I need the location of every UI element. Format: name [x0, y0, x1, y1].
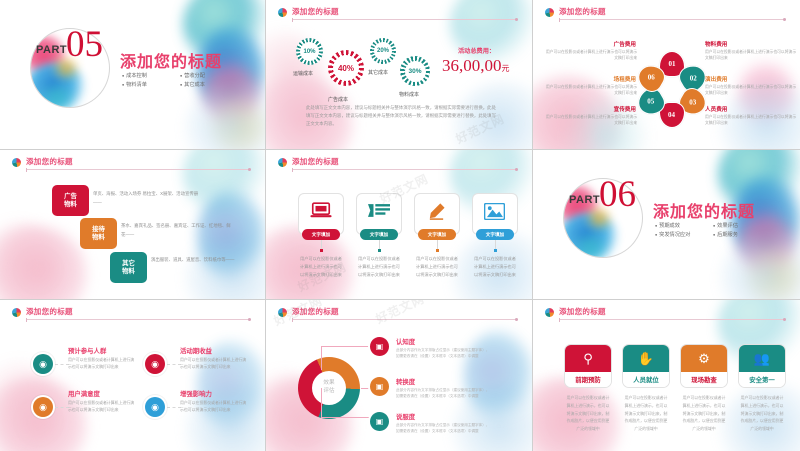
gear-icon: ⚙ — [681, 345, 727, 372]
watercolor-blob — [720, 231, 800, 300]
part-word: PART — [36, 44, 67, 56]
icon-card-badge-4[interactable]: 文字填加 — [476, 229, 514, 240]
evaluation-text-1: 此部分内容作为文字排版占位显示（建议使用主题字体），如需更改请在（设置）文本框中… — [396, 347, 492, 360]
safety-card-label-4: 安全第一 — [739, 372, 785, 387]
petal-text-03: 用户可以在投影仪或者计算机上进行演示也可以将演示文稿打印出来 — [705, 84, 797, 97]
benefit-title-1: 预计参与人群 — [68, 346, 106, 355]
slide-thumbnail-materials[interactable]: 添加您的标题 广告 物料 单页、海报、活动入场券 易拉宝、X展架、活动宣传册——… — [0, 150, 266, 300]
material-label-line2: 物料 — [64, 201, 77, 209]
evaluation-title-3: 说服度 — [396, 412, 415, 421]
evaluation-title-1: 认知度 — [396, 337, 415, 346]
ring-label: 运输成本 — [293, 70, 313, 77]
petal-text-01: 用户可以在投影仪或者计算机上进行演示也可以将演示文稿打印出来 — [545, 49, 637, 62]
petal-label-02: 物料费用 — [705, 40, 727, 48]
header-rule — [292, 19, 518, 20]
slide-header: 添加您的标题 — [12, 307, 251, 325]
watercolor-blob — [185, 81, 266, 150]
connector-node — [436, 249, 439, 252]
slide-header-title: 添加您的标题 — [26, 156, 73, 167]
connector-dash — [167, 364, 181, 365]
benefit-title-4: 增强影响力 — [180, 389, 212, 398]
cover-bullet-list: 预期成效 效果评估 突发情况应对 后期服务 — [655, 222, 765, 238]
ring-chart-segment: 30% — [400, 56, 430, 86]
cover-bullet-list: 成本控制 营收分配 物料清单 其它成本 — [122, 72, 232, 88]
people-icon: 👥 — [739, 345, 785, 372]
header-rule — [559, 319, 786, 320]
palette-icon — [545, 8, 554, 17]
benefit-icon-target[interactable]: ◉ — [33, 354, 53, 374]
part-number: 06 — [599, 176, 636, 213]
slide-thumbnail-fee-petals[interactable]: 添加您的标题 01 02 03 04 05 06 广告费用 用户可以在投影仪或者… — [533, 0, 800, 150]
ring-value: 10% — [300, 42, 319, 61]
part-number: 05 — [66, 26, 103, 63]
benefit-title-2: 活动期收益 — [180, 346, 212, 355]
connector-node — [494, 249, 497, 252]
page-title: 添加您的标题 — [653, 198, 755, 222]
slide-thumbnail-icon-cards[interactable]: 添加您的标题 文字填加 用户可以在投影仪或者计算机上进行演示也可以将演示文稿打印… — [266, 150, 533, 300]
benefit-text-1: 用户可以在投影仪或者计算机上进行演示也可以将演示文稿打印出来 — [68, 356, 136, 370]
petal-text-06: 用户可以在投影仪或者计算机上进行演示也可以将演示文稿打印出来 — [545, 84, 637, 97]
cover-bullet: 预期成效 — [655, 222, 707, 229]
total-cost-unit: 元 — [502, 64, 510, 73]
material-label-line1: 接待 — [92, 226, 105, 234]
safety-card-text-1: 用户可以在投影仪或者计算机上进行演示，也可以将演示文稿打印出来，制作成胶片，以便… — [566, 394, 610, 433]
petal-label-04: 人员费用 — [705, 105, 727, 113]
donut-center-line1: 效果 — [323, 380, 334, 388]
petal-text-02: 用户可以在投影仪或者计算机上进行演示也可以将演示文稿打印出来 — [705, 49, 797, 62]
icon-card-text-2: 用户可以在投影仪或者计算机上进行演示也可以将演示文稿打印出来 — [356, 255, 402, 279]
slide-header: 添加您的标题 — [545, 7, 786, 25]
total-cost-number: 36,00,00 — [442, 56, 502, 75]
list-icon — [368, 203, 390, 223]
slide-thumbnail-safety[interactable]: 添加您的标题 ⚲ 前期预防 用户可以在投影仪或者计算机上进行演示，也可以将演示文… — [533, 300, 800, 451]
benefit-icon-coin[interactable]: ◉ — [145, 354, 165, 374]
evaluation-text-3: 此部分内容作为文字排版占位显示（建议使用主题字体），如需更改请在（设置）文本框中… — [396, 422, 492, 435]
slide-header: 添加您的标题 — [545, 307, 786, 325]
slide-header-title: 添加您的标题 — [26, 306, 73, 317]
benefit-text-3: 用户可以在投影仪或者计算机上进行演示也可以将演示文稿打印出来 — [68, 399, 136, 413]
ring-value: 40% — [333, 55, 359, 81]
ring-label: 其它成本 — [368, 69, 388, 76]
connector-dash — [55, 364, 69, 365]
header-rule — [292, 169, 518, 170]
benefit-text-2: 用户可以在投影仪或者计算机上进行演示也可以将演示文稿打印出来 — [180, 356, 248, 370]
palette-icon — [278, 158, 287, 167]
slide-thumbnail-part-05[interactable]: PART 05 添加您的标题 成本控制 营收分配 物料清单 其它成本 — [0, 0, 266, 150]
icon-card-text-3: 用户可以在投影仪或者计算机上进行演示也可以将演示文稿打印出来 — [414, 255, 460, 279]
page-title: 添加您的标题 — [120, 48, 222, 72]
laptop-icon — [310, 202, 332, 224]
safety-card-text-2: 用户可以在投影仪或者计算机上进行演示，也可以将演示文稿打印出来，制作成胶片，以便… — [624, 394, 668, 433]
evaluation-title-2: 转换度 — [396, 377, 415, 386]
connector-dash — [55, 407, 69, 408]
slide-thumbnail-grid: PART 05 添加您的标题 成本控制 营收分配 物料清单 其它成本 添加您的标… — [0, 0, 800, 451]
ring-chart-segment: 10% — [296, 38, 323, 65]
cover-bullet: 效果评估 — [713, 222, 765, 229]
slide-thumbnail-cost-rings[interactable]: 添加您的标题 10% 运输成本 40% 广告成本 20% 其它成本 30% 物料… — [266, 0, 533, 150]
slide-header: 添加您的标题 — [278, 307, 518, 325]
connector-dash — [167, 407, 181, 408]
petal-label-06: 场租费用 — [606, 75, 636, 83]
icon-card-text-4: 用户可以在投影仪或者计算机上进行演示也可以将演示文稿打印出来 — [472, 255, 518, 279]
magnifier-icon: ⚲ — [565, 345, 611, 372]
petal-label-05: 宣传费用 — [606, 105, 636, 113]
safety-card-1[interactable]: ⚲ 前期预防 — [564, 344, 612, 388]
palette-icon — [278, 8, 287, 17]
evaluation-icon-1[interactable]: ▣ — [370, 337, 389, 356]
ring-chart-segment: 20% — [370, 38, 396, 64]
header-rule — [26, 319, 251, 320]
image-icon — [484, 203, 505, 225]
slide-header-title: 添加您的标题 — [559, 6, 606, 17]
slide-header-title: 添加您的标题 — [292, 6, 339, 17]
body-paragraph: 此处填写正文文本内容，建议与标题相关并与整体演示风格一致，请根据实际需要进行替换… — [306, 104, 496, 128]
slide-header: 添加您的标题 — [278, 157, 518, 175]
petal-label-01: 广告费用 — [606, 40, 636, 48]
slide-header: 添加您的标题 — [12, 157, 251, 175]
evaluation-icon-2[interactable]: ▣ — [370, 377, 389, 396]
material-label-line2: 物料 — [92, 234, 105, 242]
slide-header-title: 添加您的标题 — [292, 306, 339, 317]
safety-card-label-1: 前期预防 — [565, 372, 611, 387]
palette-icon — [545, 308, 554, 317]
safety-card-text-3: 用户可以在投影仪或者计算机上进行演示，也可以将演示文稿打印出来，制作成胶片，以便… — [682, 394, 726, 433]
benefit-text-4: 用户可以在投影仪或者计算机上进行演示也可以将演示文稿打印出来 — [180, 399, 248, 413]
icon-card-badge-2[interactable]: 文字填加 — [360, 229, 398, 240]
watercolor-blob — [0, 220, 60, 300]
watercolor-blob — [203, 96, 266, 150]
watercolor-blob — [185, 231, 266, 300]
material-block-reception[interactable]: 接待 物料 — [80, 218, 117, 249]
material-block-other[interactable]: 其它 物料 — [110, 252, 147, 283]
slide-header-title: 添加您的标题 — [559, 306, 606, 317]
ring-label: 广告成本 — [328, 96, 348, 103]
watercolor-blob — [738, 246, 800, 300]
slide-thumbnail-part-06[interactable]: PART 06 添加您的标题 预期成效 效果评估 突发情况应对 后期服务 — [533, 150, 800, 300]
connector-node — [378, 249, 381, 252]
material-label-line1: 其它 — [122, 260, 135, 268]
icon-card-badge-1[interactable]: 文字填加 — [302, 229, 340, 240]
header-rule — [26, 169, 251, 170]
safety-card-label-3: 现场勘查 — [681, 372, 727, 387]
watercolor-blob — [464, 330, 533, 422]
evaluation-icon-3[interactable]: ▣ — [370, 412, 389, 431]
slide-thumbnail-benefits[interactable]: 添加您的标题 ◉ 预计参与人群 用户可以在投影仪或者计算机上进行演示也可以将演示… — [0, 300, 266, 451]
safety-card-label-2: 人员就位 — [623, 372, 669, 387]
handshake-icon: ✋ — [623, 345, 669, 372]
safety-card-text-4: 用户可以在投影仪或者计算机上进行演示，也可以将演示文稿打印出来，制作成胶片，以便… — [740, 394, 784, 433]
leader-line-1 — [321, 346, 369, 370]
benefit-title-3: 用户满意度 — [68, 389, 100, 398]
part-word: PART — [569, 194, 600, 206]
connector-node — [320, 249, 323, 252]
slide-thumbnail-evaluation[interactable]: 添加您的标题 效果 评估 ▣ 认知度 此部分内容作为文字排版占位显示（建议使用主… — [266, 300, 533, 451]
safety-card-4[interactable]: 👥 安全第一 — [738, 344, 786, 388]
header-rule — [292, 319, 518, 320]
benefit-icon-globe[interactable]: ◉ — [145, 397, 165, 417]
cover-bullet: 突发情况应对 — [655, 231, 707, 238]
material-block-advertising[interactable]: 广告 物料 — [52, 185, 89, 216]
slide-header-title: 添加您的标题 — [292, 156, 339, 167]
material-text-reception: 茶水、嘉宾礼品、签名册、嘉宾证、工作证、红地毯、鲜花—— — [121, 222, 231, 240]
safety-card-2[interactable]: ✋ 人员就位 — [622, 344, 670, 388]
petal-label-03: 演出费用 — [705, 75, 727, 83]
material-label-line2: 物料 — [122, 268, 135, 276]
ring-chart-segment: 40% — [328, 50, 364, 86]
palette-icon — [12, 158, 21, 167]
total-cost-value: 36,00,00元 — [442, 56, 510, 76]
cover-bullet: 其它成本 — [180, 81, 232, 88]
total-cost-label: 活动总费用： — [458, 46, 495, 55]
icon-card-text-1: 用户可以在投影仪或者计算机上进行演示也可以将演示文稿打印出来 — [298, 255, 344, 279]
safety-card-3[interactable]: ⚙ 现场勘查 — [680, 344, 728, 388]
material-text-advertising: 单页、海报、活动入场券 易拉宝、X展架、活动宣传册—— — [93, 190, 203, 208]
palette-icon — [12, 308, 21, 317]
evaluation-text-2: 此部分内容作为文字排版占位显示（建议使用主题字体），如需更改请在（设置）文本框中… — [396, 387, 492, 400]
header-rule — [559, 19, 786, 20]
cover-bullet: 成本控制 — [122, 72, 174, 79]
cover-bullet: 物料清单 — [122, 81, 174, 88]
cover-bullet: 营收分配 — [180, 72, 232, 79]
ring-value: 20% — [374, 42, 392, 60]
icon-card-badge-3[interactable]: 文字填加 — [418, 229, 456, 240]
palette-icon — [278, 308, 287, 317]
benefit-icon-smile[interactable]: ◉ — [33, 397, 53, 417]
material-label-line1: 广告 — [64, 193, 77, 201]
leader-line-3 — [321, 388, 369, 418]
ring-value: 30% — [405, 61, 426, 82]
ring-label: 物料成本 — [399, 91, 419, 98]
petal-text-05: 用户可以在投影仪或者计算机上进行演示也可以将演示文稿打印出来 — [545, 114, 637, 127]
pencil-icon — [427, 202, 446, 226]
petal-text-04: 用户可以在投影仪或者计算机上进行演示也可以将演示文稿打印出来 — [705, 114, 797, 127]
watercolor-blob — [0, 225, 88, 300]
cover-bullet: 后期服务 — [713, 231, 765, 238]
material-text-other: 演出服装、道具、道屋音、饮料纸巾等—— — [151, 256, 261, 265]
slide-header: 添加您的标题 — [278, 7, 518, 25]
